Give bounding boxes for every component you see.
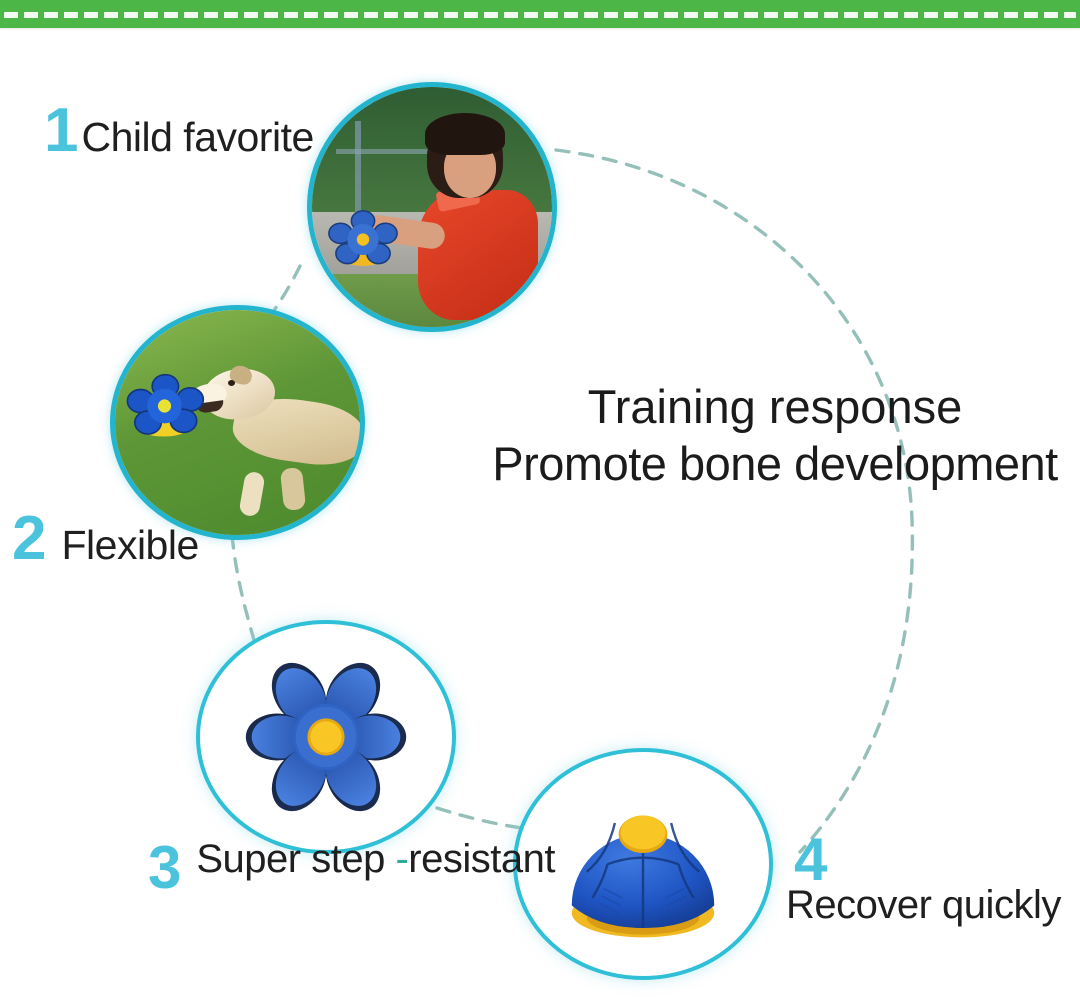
feature-image-child-favorite[interactable]: [307, 82, 557, 332]
feature-title-3: Super step -resistant: [196, 838, 555, 880]
feature-number-2: 2: [12, 508, 45, 570]
feature-title-3-line1: Super step: [196, 837, 384, 881]
feature-title-3-hyphen: -: [395, 837, 408, 881]
feature-label-4: 4 Recover quickly: [786, 830, 1061, 926]
headline-line-2: Promote bone development: [470, 435, 1080, 492]
feature-number-4: 4: [794, 830, 1061, 890]
feature-title-3-line2: -resistant: [395, 837, 555, 881]
infographic-canvas: 1 Child favorite 2 Flexible 3 Super step…: [0, 0, 1080, 997]
headline-block: Training response Promote bone developme…: [470, 378, 1080, 493]
feature-label-3: 3 Super step -resistant: [148, 838, 555, 898]
feature-title-3-line2-text: resistant: [408, 837, 555, 881]
feature-title-2: Flexible: [61, 524, 198, 567]
headline-line-1: Training response: [470, 378, 1080, 435]
toy-ball-closed-icon: [545, 793, 741, 943]
photo-child-throwing-ball: [312, 87, 552, 327]
feature-title-4: Recover quickly: [786, 884, 1061, 926]
dashed-divider-line: [4, 12, 1076, 18]
feature-number-1: 1: [44, 100, 77, 162]
toy-disc-small-icon: [125, 373, 209, 439]
toy-disc-open-flat-icon: [228, 649, 424, 825]
feature-label-2: 2 Flexible: [12, 508, 199, 570]
feature-label-1: 1 Child favorite: [44, 100, 314, 162]
feature-image-flexible[interactable]: [110, 305, 365, 540]
feature-number-3: 3: [148, 838, 180, 898]
feature-title-1: Child favorite: [81, 116, 313, 159]
photo-dog-chasing-ball: [115, 310, 360, 535]
green-divider-bar: [0, 0, 1080, 28]
toy-disc-small-icon: [324, 207, 402, 269]
feature-image-super-step-resistant[interactable]: [196, 620, 456, 854]
